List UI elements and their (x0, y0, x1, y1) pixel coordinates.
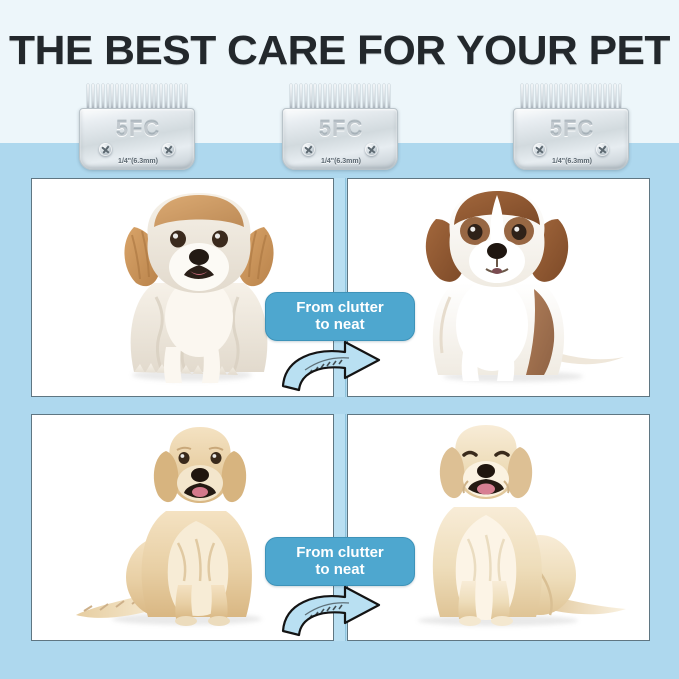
blade-screw-left-icon (99, 143, 112, 156)
blade-model-label: 5FC (514, 116, 630, 142)
page-title: THE BEST CARE FOR YOUR PET (0, 27, 679, 74)
blade-model-label: 5FC (80, 116, 196, 142)
curved-arrow-right-icon (275, 340, 405, 402)
flow-badge-line2: to neat (315, 561, 364, 578)
flow-badge-line2: to neat (315, 316, 364, 333)
blade-screw-left-icon (533, 143, 546, 156)
blade-size-label: 1/4"(6.3mm) (283, 158, 399, 165)
blade-size-label: 1/4"(6.3mm) (80, 158, 196, 165)
dog-golden-retriever-after (388, 423, 628, 631)
blade-body: 5FC 1/4"(6.3mm) (79, 108, 195, 170)
dog-shaggy-terrier-before (104, 187, 294, 392)
blade-model-label: 5FC (283, 116, 399, 142)
curved-arrow-right-icon (275, 585, 405, 647)
blade-body: 5FC 1/4"(6.3mm) (282, 108, 398, 170)
clipper-blade-2: 5FC 1/4"(6.3mm) (282, 84, 398, 170)
blade-screw-right-icon (596, 143, 609, 156)
blade-screw-right-icon (162, 143, 175, 156)
dog-golden-retriever-before (74, 425, 309, 630)
flow-badge-line1: From clutter (296, 544, 384, 561)
dog-havanese-after (406, 185, 636, 393)
product-image-canvas: THE BEST CARE FOR YOUR PET 5FC 1/4"(6.3m… (0, 0, 679, 679)
blade-size-label: 1/4"(6.3mm) (514, 158, 630, 165)
clipper-blade-1: 5FC 1/4"(6.3mm) (79, 84, 195, 170)
flow-badge-line1: From clutter (296, 299, 384, 316)
flow-badge-bottom: From clutter to neat (265, 537, 415, 586)
clipper-blade-3: 5FC 1/4"(6.3mm) (513, 84, 629, 170)
blade-screw-right-icon (365, 143, 378, 156)
blade-body: 5FC 1/4"(6.3mm) (513, 108, 629, 170)
blade-screw-left-icon (302, 143, 315, 156)
flow-badge-top: From clutter to neat (265, 292, 415, 341)
